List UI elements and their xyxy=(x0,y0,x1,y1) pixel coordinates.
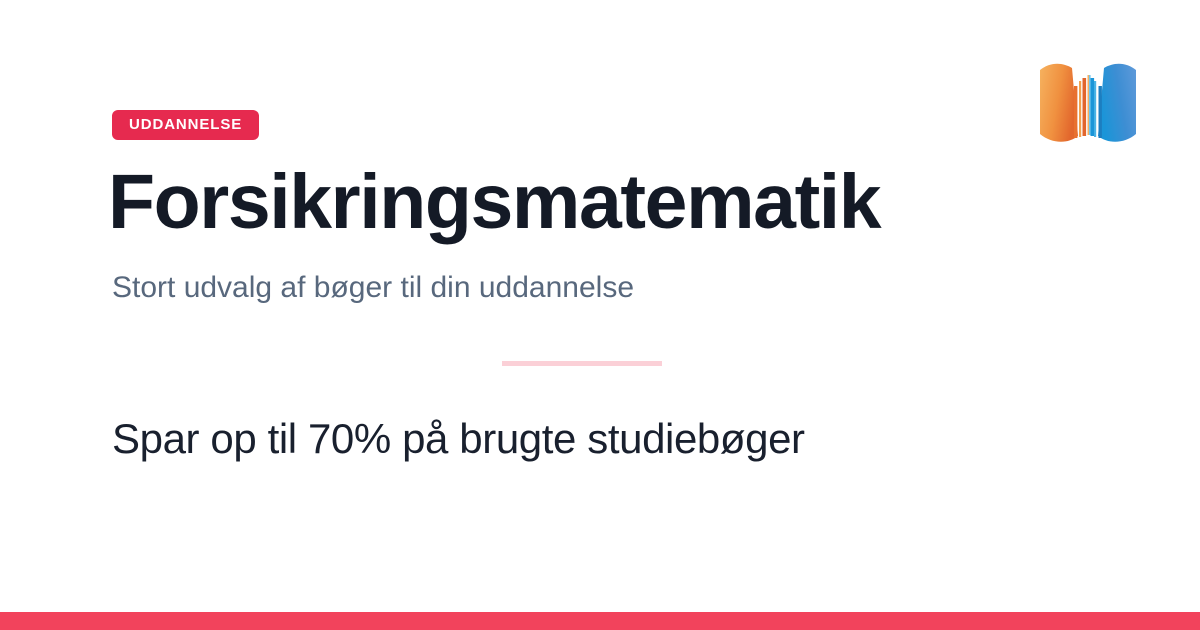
promo-headline: Spar op til 70% på brugte studiebøger xyxy=(112,414,1052,464)
accent-divider xyxy=(502,361,662,366)
page-title: Forsikringsmatematik xyxy=(108,162,1052,242)
hero-content: UDDANNELSE Forsikringsmatematik Stort ud… xyxy=(112,0,1052,464)
og-preview-card: UDDANNELSE Forsikringsmatematik Stort ud… xyxy=(0,0,1200,630)
category-badge[interactable]: UDDANNELSE xyxy=(112,110,259,140)
page-subtitle: Stort udvalg af bøger til din uddannelse xyxy=(112,270,1052,306)
bottom-accent-bar xyxy=(0,612,1200,630)
